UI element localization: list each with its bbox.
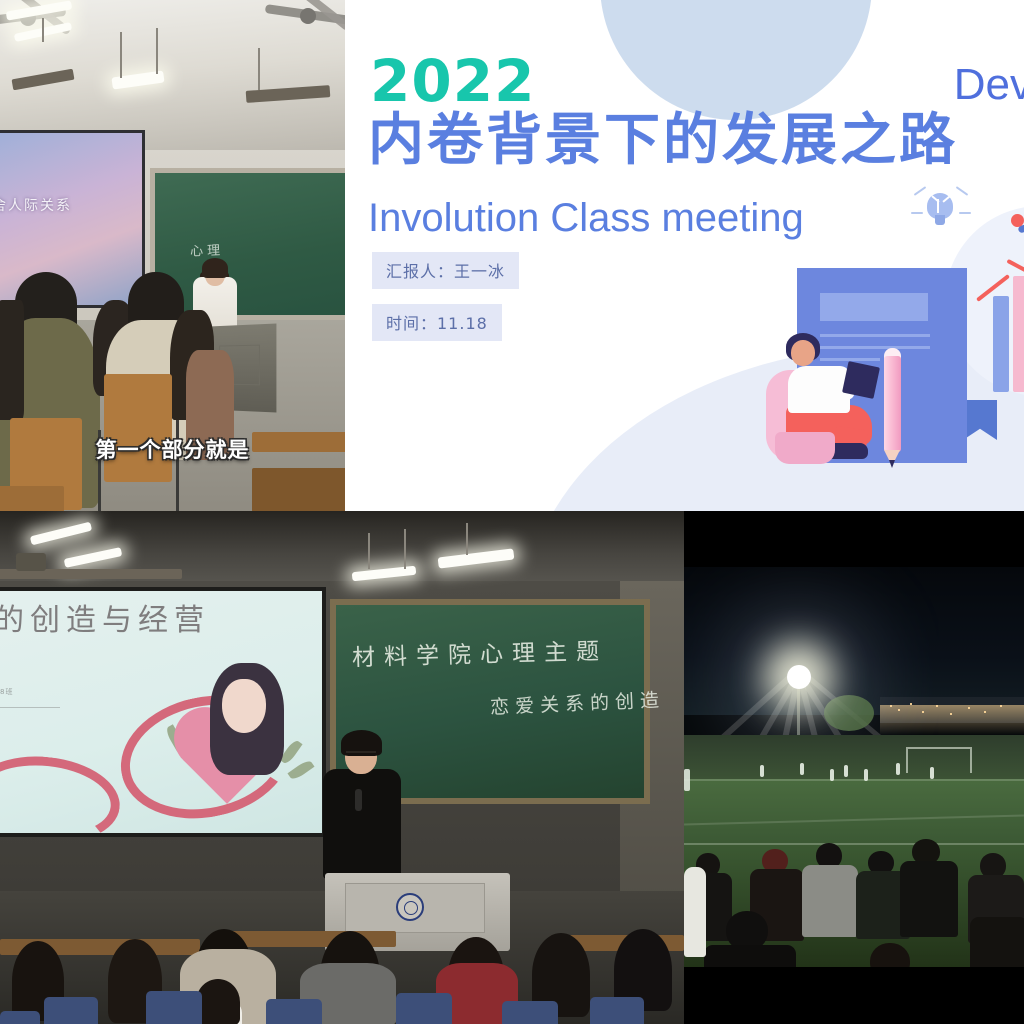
armchair-seat bbox=[775, 432, 835, 464]
bulb-ray bbox=[914, 186, 927, 196]
document-line bbox=[820, 334, 930, 337]
bulb-ray bbox=[911, 212, 923, 214]
field-far bbox=[684, 735, 1024, 783]
ceiling-fan-hub bbox=[300, 8, 316, 24]
letterbox-bottom bbox=[684, 967, 1024, 1024]
light-rod bbox=[368, 533, 370, 569]
floodlight-pole bbox=[797, 683, 800, 735]
projector-rule bbox=[0, 707, 60, 708]
pencil-lead bbox=[889, 460, 895, 468]
document-line bbox=[820, 346, 930, 349]
light-rod bbox=[404, 529, 406, 569]
person-head bbox=[791, 340, 815, 366]
slide-title-cn: 内卷背景下的发展之路 bbox=[368, 112, 958, 171]
chart-bar bbox=[993, 296, 1009, 392]
audience-head bbox=[196, 979, 240, 1024]
chart-dot bbox=[1011, 214, 1024, 227]
field-scene bbox=[684, 567, 1024, 967]
seat bbox=[502, 1001, 558, 1024]
player bbox=[760, 765, 764, 777]
letterbox-top bbox=[684, 511, 1024, 567]
teacher-hair bbox=[202, 258, 228, 278]
window-light bbox=[950, 713, 952, 715]
projector-text: 舍人际关系 bbox=[0, 195, 72, 215]
screenshot-collage: 舍人际关系 心理 第一个部分就是 2022 D bbox=[0, 0, 1024, 1024]
microphone bbox=[355, 789, 362, 811]
window-light bbox=[968, 707, 970, 709]
floodlight bbox=[787, 665, 811, 689]
document-title-bar bbox=[820, 293, 928, 321]
field-mid bbox=[684, 779, 1024, 849]
player bbox=[930, 767, 934, 779]
night-field-panel[interactable] bbox=[684, 511, 1024, 1024]
blackboard-line-1: 材料学院心理主题 bbox=[352, 632, 609, 673]
window-light bbox=[1000, 705, 1002, 707]
video-subtitle: 第一个部分就是 bbox=[0, 434, 345, 464]
player bbox=[864, 769, 868, 781]
player bbox=[896, 763, 900, 775]
projector-small-text: 8班 bbox=[0, 687, 13, 697]
light-rod bbox=[120, 32, 122, 78]
seat bbox=[0, 1011, 40, 1024]
bulb-ray bbox=[956, 186, 969, 196]
light-rod bbox=[42, 18, 44, 42]
speaker-body bbox=[323, 769, 401, 879]
lecture-hall-panel[interactable]: 的创造与经营 8班 材料学院心理主题 恋爱关系的创造 bbox=[0, 511, 684, 1024]
chart-bar bbox=[1013, 276, 1024, 392]
slide-dev-word: Dev bbox=[954, 60, 1024, 110]
night-sky bbox=[684, 567, 1024, 715]
city-glow bbox=[880, 705, 1024, 735]
window-light bbox=[910, 703, 912, 705]
light-rod bbox=[258, 48, 260, 90]
seat bbox=[590, 997, 644, 1024]
projector-main-text: 的创造与经营 bbox=[0, 595, 210, 639]
girl-face bbox=[222, 679, 266, 733]
presentation-slide-panel[interactable]: 2022 Dev 内卷背景下的发展之路 Involution Class mee… bbox=[345, 0, 1024, 511]
projection-screen: 舍人际关系 bbox=[0, 130, 145, 308]
tree bbox=[824, 695, 874, 731]
chair bbox=[104, 374, 172, 482]
bulb-base bbox=[935, 215, 945, 225]
player bbox=[844, 765, 848, 777]
pencil-body bbox=[884, 356, 901, 452]
window-light bbox=[898, 709, 900, 711]
window-light bbox=[890, 705, 892, 707]
player bbox=[830, 769, 834, 781]
slide-year: 2022 bbox=[370, 52, 535, 110]
blackboard-chalk-text: 心理 bbox=[190, 239, 225, 259]
window-light bbox=[922, 711, 924, 713]
university-emblem bbox=[396, 893, 424, 921]
player bbox=[684, 769, 690, 791]
speaker-glasses bbox=[346, 751, 376, 758]
goal-post bbox=[906, 747, 972, 773]
projector-mount bbox=[16, 553, 46, 571]
field-line bbox=[684, 843, 1024, 845]
seat bbox=[44, 997, 98, 1024]
desk bbox=[252, 468, 345, 511]
student-head bbox=[0, 300, 24, 420]
light-rod bbox=[466, 523, 468, 555]
bulb-ray bbox=[959, 212, 971, 214]
light-rod bbox=[156, 28, 158, 74]
book bbox=[842, 361, 880, 399]
classroom-video-panel[interactable]: 舍人际关系 心理 第一个部分就是 bbox=[0, 0, 345, 511]
player bbox=[800, 763, 804, 775]
decorative-circle bbox=[600, 0, 872, 120]
desk bbox=[0, 486, 64, 511]
slide-subtitle-en: Involution Class meeting bbox=[368, 196, 804, 241]
seat bbox=[396, 993, 452, 1024]
window-light bbox=[984, 711, 986, 713]
window-light bbox=[936, 705, 938, 707]
seat bbox=[146, 991, 202, 1024]
field-line bbox=[684, 779, 1024, 781]
seat bbox=[266, 999, 322, 1024]
slide-speaker-tag: 汇报人：王一冰 bbox=[372, 252, 519, 289]
slide-time-tag: 时间：11.18 bbox=[372, 304, 502, 341]
